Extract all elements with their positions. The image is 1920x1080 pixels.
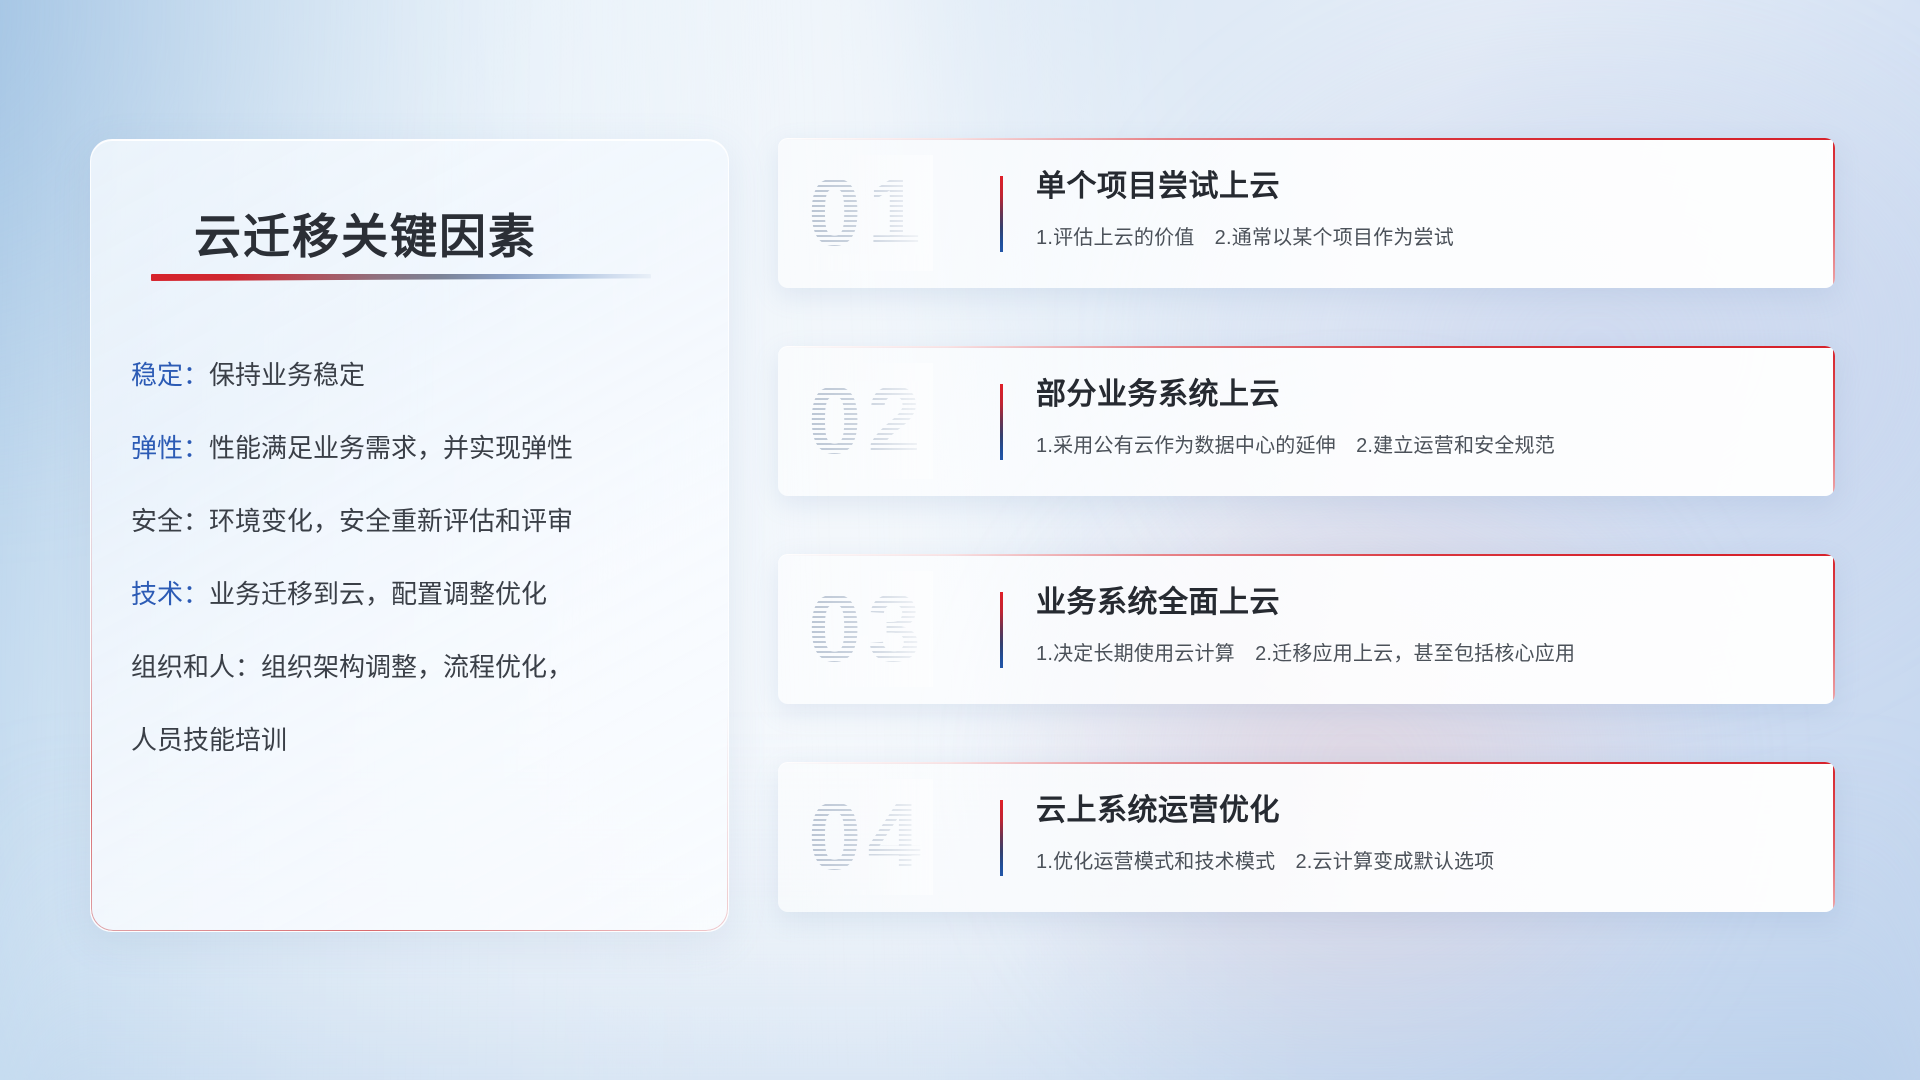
card-right-accent-line [1833,762,1835,912]
card-top-accent-line [778,554,1835,556]
list-item-text: 人员技能培训 [131,725,287,755]
card-top-accent-line [778,762,1835,764]
card-description: 1.采用公有云作为数据中心的延伸 2.建立运营和安全规范 [1036,429,1811,458]
card-number-watermark: 01 [808,165,927,261]
card-divider-line [1000,592,1003,668]
card-body: 部分业务系统上云 1.采用公有云作为数据中心的延伸 2.建立运营和安全规范 [1036,378,1811,458]
stage-card[interactable]: 03 业务系统全面上云 1.决定长期使用云计算 2.迁移应用上云，甚至包括核心应… [778,554,1835,704]
list-item-label: 安全： [131,506,209,536]
page-title: 云迁移关键因素 [194,198,537,267]
list-item-label: 弹性： [131,433,209,463]
key-factors-panel: 云迁移关键因素 稳定：保持业务稳定 弹性：性能满足业务需求，并实现弹性 安全：环… [90,139,729,932]
card-body: 业务系统全面上云 1.决定长期使用云计算 2.迁移应用上云，甚至包括核心应用 [1036,586,1811,666]
title-underline-rule [151,274,651,281]
card-title: 部分业务系统上云 [1036,378,1811,413]
list-item: 稳定：保持业务稳定 [131,362,691,388]
key-factors-list: 稳定：保持业务稳定 弹性：性能满足业务需求，并实现弹性 安全：环境变化，安全重新… [131,362,691,753]
card-title: 云上系统运营优化 [1036,794,1811,829]
list-item-text: 保持业务稳定 [209,360,365,390]
card-top-accent-line [778,346,1835,348]
list-item-text: 性能满足业务需求，并实现弹性 [209,433,573,463]
list-item: 组织和人：组织架构调整，流程优化， [131,654,691,680]
card-top-accent-line [778,138,1835,140]
stage-card[interactable]: 02 部分业务系统上云 1.采用公有云作为数据中心的延伸 2.建立运营和安全规范 [778,346,1835,496]
migration-stage-cards: 01 单个项目尝试上云 1.评估上云的价值 2.通常以某个项目作为尝试 02 部… [778,138,1835,912]
list-item-text: 环境变化，安全重新评估和评审 [209,506,573,536]
card-divider-line [1000,176,1003,252]
list-item-label: 组织和人： [131,652,261,682]
card-number-watermark: 04 [808,789,927,885]
card-description: 1.优化运营模式和技术模式 2.云计算变成默认选项 [1036,845,1811,874]
card-number-watermark: 03 [808,581,927,677]
card-title: 单个项目尝试上云 [1036,170,1811,205]
card-right-accent-line [1833,138,1835,288]
list-item-label: 技术： [131,579,209,609]
list-item-label: 稳定： [131,360,209,390]
card-divider-line [1000,384,1003,460]
card-description: 1.决定长期使用云计算 2.迁移应用上云，甚至包括核心应用 [1036,637,1811,666]
list-item-text: 业务迁移到云，配置调整优化 [209,579,547,609]
stage-card[interactable]: 01 单个项目尝试上云 1.评估上云的价值 2.通常以某个项目作为尝试 [778,138,1835,288]
card-right-accent-line [1833,554,1835,704]
card-body: 单个项目尝试上云 1.评估上云的价值 2.通常以某个项目作为尝试 [1036,170,1811,250]
card-title: 业务系统全面上云 [1036,586,1811,621]
card-body: 云上系统运营优化 1.优化运营模式和技术模式 2.云计算变成默认选项 [1036,794,1811,874]
card-description: 1.评估上云的价值 2.通常以某个项目作为尝试 [1036,221,1811,250]
stage-card[interactable]: 04 云上系统运营优化 1.优化运营模式和技术模式 2.云计算变成默认选项 [778,762,1835,912]
card-divider-line [1000,800,1003,876]
card-right-accent-line [1833,346,1835,496]
list-item: 弹性：性能满足业务需求，并实现弹性 [131,435,691,461]
list-item-continuation: 人员技能培训 [131,727,691,753]
card-number-watermark: 02 [808,373,927,469]
list-item-text: 组织架构调整，流程优化， [261,652,573,682]
list-item: 技术：业务迁移到云，配置调整优化 [131,581,691,607]
slide-stage: 云迁移关键因素 稳定：保持业务稳定 弹性：性能满足业务需求，并实现弹性 安全：环… [0,0,1920,1080]
list-item: 安全：环境变化，安全重新评估和评审 [131,508,691,534]
